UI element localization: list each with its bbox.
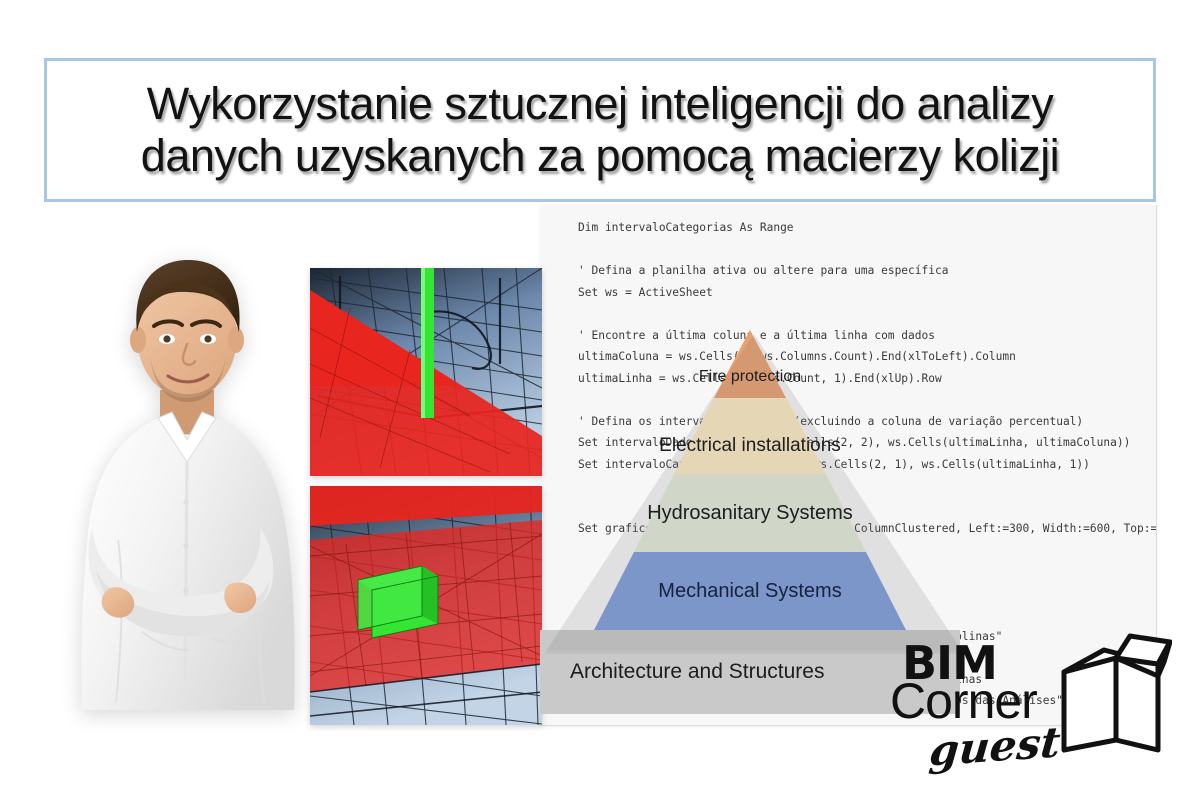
pyramid-label-mechanical-systems: Mechanical Systems xyxy=(658,580,841,603)
presenter-photo xyxy=(62,240,312,725)
open-box-glyph xyxy=(1052,628,1172,758)
title-box: Wykorzystanie sztucznej inteligencji do … xyxy=(44,58,1156,202)
pyramid-label-architecture-and-structures: Architecture and Structures xyxy=(570,660,824,684)
bim-clash-render-1 xyxy=(310,268,542,476)
bim-clash-render-2 xyxy=(310,486,542,725)
pyramid-label-fire-protection: Fire protection xyxy=(699,368,801,386)
poster-canvas: Dim intervaloCategorias As Range' Defina… xyxy=(0,0,1200,800)
discipline-pyramid: Fire protection Electrical installations… xyxy=(540,330,960,725)
bim-corner-logo: BIM Corner guest xyxy=(902,618,1170,786)
code-line xyxy=(578,303,1156,325)
title-line-1: Wykorzystanie sztucznej inteligencji do … xyxy=(147,78,1054,130)
code-line: Set ws = ActiveSheet xyxy=(578,282,1156,304)
presenter-illustration xyxy=(62,240,312,725)
code-line: Dim intervaloCategorias As Range xyxy=(578,217,1156,239)
logo-tagline: guest xyxy=(928,722,1062,773)
title-line-2: danych uzyskanych za pomocą macierzy kol… xyxy=(141,130,1059,182)
code-line xyxy=(578,239,1156,261)
bim-clash-image-1 xyxy=(310,268,542,476)
pyramid-label-hydrosanitary-systems: Hydrosanitary Systems xyxy=(647,502,853,525)
bim-clash-image-2 xyxy=(310,486,542,725)
code-line: ' Defina a planilha ativa ou altere para… xyxy=(578,260,1156,282)
pyramid-label-electrical-installations: Electrical installations xyxy=(659,435,841,457)
logo-brand-bottom: Corner xyxy=(890,676,1037,726)
open-box-icon xyxy=(1052,628,1172,758)
